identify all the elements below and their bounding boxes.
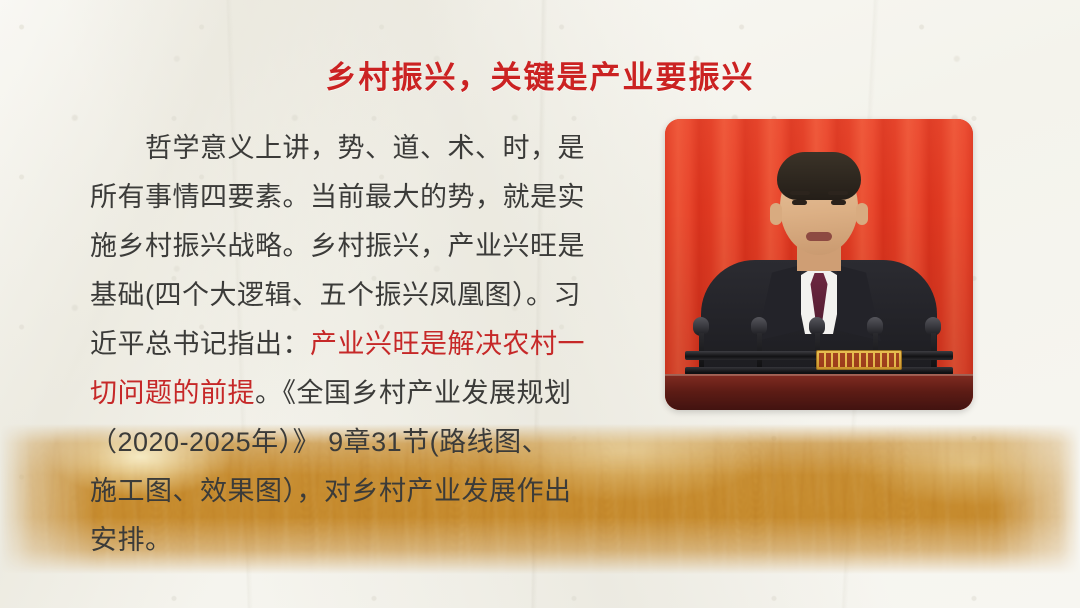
slide-title: 乡村振兴，关键是产业要振兴 xyxy=(0,52,1080,97)
speaker-eyebrow-left xyxy=(790,191,810,195)
body-line: 所有事情四要素。当前最大的势，就是实 xyxy=(90,173,618,222)
body-text-run: 基础(四个大逻辑、五个振兴凤凰图）。习 xyxy=(90,280,581,310)
body-text-run: 近平总书记指出： xyxy=(90,329,310,359)
speaker-photo xyxy=(665,119,973,410)
body-text-run: 安排。 xyxy=(90,525,173,555)
body-text-run: 所有事情四要素。当前最大的势，就是实 xyxy=(90,182,585,212)
presentation-slide: 乡村振兴，关键是产业要振兴 哲学意义上讲，势、道、术、时，是所有事情四要素。当前… xyxy=(0,0,1080,608)
body-line: 安排。 xyxy=(90,516,618,565)
body-text-run: （2020-2025年）》 9章31节(路线图、 xyxy=(90,427,549,457)
body-line: （2020-2025年）》 9章31节(路线图、 xyxy=(90,418,618,467)
podium-nameplate xyxy=(816,350,902,370)
body-line: 切问题的前提。《全国乡村产业发展规划 xyxy=(90,369,618,418)
microphone-stem xyxy=(931,333,936,367)
highlighted-text: 产业兴旺是解决农村一 xyxy=(310,329,585,359)
speaker-ear-left xyxy=(770,203,782,225)
speaker-eyebrow-right xyxy=(828,191,848,195)
body-text-run: 哲学意义上讲，势、道、术、时，是 xyxy=(90,133,585,163)
body-line: 施乡村振兴战略。乡村振兴，产业兴旺是 xyxy=(90,222,618,271)
podium-front xyxy=(665,376,973,410)
body-text-run: 施工图、效果图），对乡村产业发展作出 xyxy=(90,476,572,506)
body-line: 哲学意义上讲，势、道、术、时，是 xyxy=(90,124,618,173)
body-text-run: 。《全国乡村产业发展规划 xyxy=(255,378,572,408)
body-paragraph: 哲学意义上讲，势、道、术、时，是所有事情四要素。当前最大的势，就是实施乡村振兴战… xyxy=(90,124,618,565)
podium-nameplate-text xyxy=(819,353,899,367)
body-text-run: 施乡村振兴战略。乡村振兴，产业兴旺是 xyxy=(90,231,585,261)
microphone-stem xyxy=(757,333,762,367)
speaker-eye-right xyxy=(831,200,846,205)
speaker-eye-left xyxy=(792,200,807,205)
speaker-mouth xyxy=(806,232,832,241)
body-line: 施工图、效果图），对乡村产业发展作出 xyxy=(90,467,618,516)
microphone-stem xyxy=(699,333,704,367)
highlighted-text: 切问题的前提 xyxy=(90,378,255,408)
body-line: 近平总书记指出：产业兴旺是解决农村一 xyxy=(90,320,618,369)
speaker-ear-right xyxy=(856,203,868,225)
body-line: 基础(四个大逻辑、五个振兴凤凰图）。习 xyxy=(90,271,618,320)
